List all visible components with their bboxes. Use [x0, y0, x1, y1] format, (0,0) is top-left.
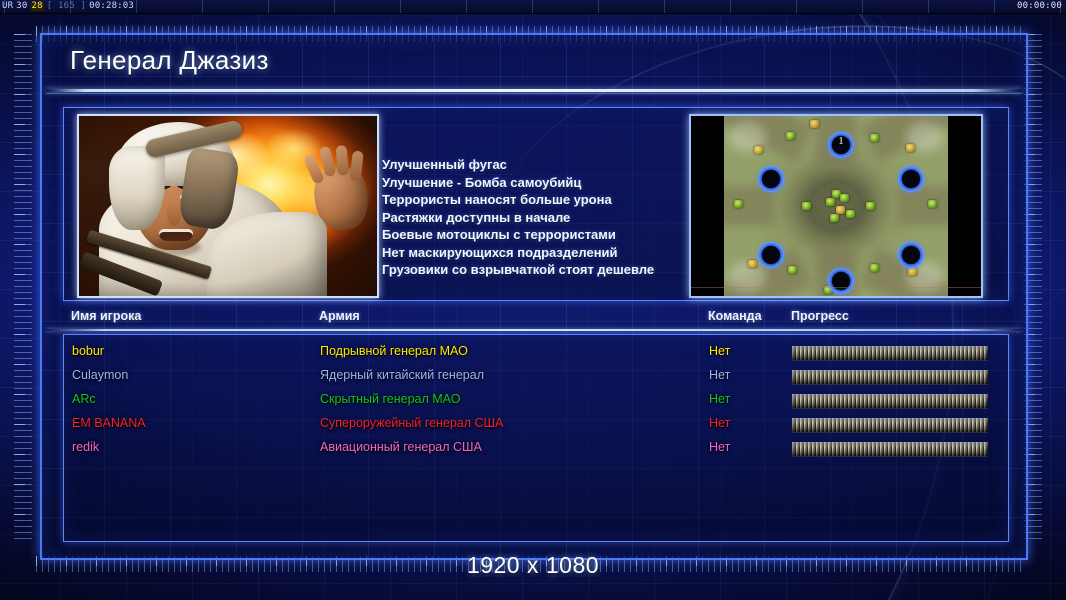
table-row[interactable]: ARc Скрытный генерал МАО Нет [64, 389, 1008, 413]
player-army[interactable]: Супероружейный генерал США [320, 416, 503, 430]
ruler-left [14, 34, 32, 544]
player-team[interactable]: Нет [709, 368, 730, 382]
portrait-vignette [79, 116, 377, 296]
player-team[interactable]: Нет [709, 392, 730, 406]
player-name[interactable]: Culaymon [72, 368, 128, 382]
player-list-header: Имя игрока Армия Команда Прогресс [63, 307, 1007, 329]
page-title: Генерал Джазиз [70, 45, 269, 76]
table-row[interactable]: bobur Подрывной генерал МАО Нет [64, 341, 1008, 365]
minimap-start-position [898, 242, 924, 268]
player-team[interactable]: Нет [709, 440, 730, 454]
status-elapsed-time: 00:28:03 [89, 2, 134, 11]
status-bar-left: UR 30 28 [ 165 ] 00:28:03 [0, 2, 134, 11]
player-team[interactable]: Нет [709, 344, 730, 358]
header-army: Армия [319, 309, 360, 323]
minimap-start-position [758, 166, 784, 192]
top-status-bar: UR 30 28 [ 165 ] 00:28:03 00:00:00 [0, 0, 1066, 14]
player-name[interactable]: ARc [72, 392, 96, 406]
description-line: Растяжки доступны в начале [382, 209, 742, 227]
minimap-start-position [828, 268, 854, 294]
minimap-start-position: 1 [828, 132, 854, 158]
minimap-letterbox-right [948, 116, 981, 296]
header-player-name: Имя игрока [71, 309, 141, 323]
header-divider [46, 329, 1022, 331]
description-line: Улучшение - Бомба самоубийц [382, 174, 742, 192]
status-prefix: UR [2, 2, 13, 11]
minimap-guideline [691, 287, 981, 288]
player-progress-bar [792, 418, 988, 433]
title-divider-shadow [46, 93, 1022, 94]
general-portrait [77, 114, 379, 298]
main-window: Генерал Джазиз [40, 33, 1028, 560]
minimap-start-position [898, 166, 924, 192]
status-value-1: 30 [16, 2, 27, 11]
player-army[interactable]: Ядерный китайский генерал [320, 368, 484, 382]
header-team: Команда [708, 309, 762, 323]
description-line: Нет маскирующихся подразделений [382, 244, 742, 262]
general-info-panel: Улучшенный фугас Улучшение - Бомба самоу… [63, 107, 1009, 301]
player-team[interactable]: Нет [709, 416, 730, 430]
player-progress-bar [792, 370, 988, 385]
minimap-terrain: 1 [724, 116, 948, 296]
minimap-letterbox-left [691, 116, 724, 296]
description-line: Боевые мотоциклы с террористами [382, 226, 742, 244]
table-row[interactable]: redik Авиационный генерал США Нет [64, 437, 1008, 461]
player-army[interactable]: Авиационный генерал США [320, 440, 482, 454]
player-progress-bar [792, 346, 988, 361]
table-row[interactable]: EM BANANA Супероружейный генерал США Нет [64, 413, 1008, 437]
status-bar-cells [0, 0, 1066, 13]
player-progress-bar [792, 394, 988, 409]
description-line: Террористы наносят больше урона [382, 191, 742, 209]
header-progress: Прогресс [791, 309, 849, 323]
player-army[interactable]: Скрытный генерал МАО [320, 392, 460, 406]
minimap-start-position [758, 242, 784, 268]
minimap-start-label: 1 [828, 135, 854, 147]
player-list-panel: bobur Подрывной генерал МАО Нет Culaymon… [63, 334, 1009, 542]
window-titlebar: Генерал Джазиз [42, 35, 1026, 91]
player-name[interactable]: redik [72, 440, 99, 454]
player-name[interactable]: EM BANANA [72, 416, 146, 430]
table-row[interactable]: Culaymon Ядерный китайский генерал Нет [64, 365, 1008, 389]
description-line: Грузовики со взрывчаткой стоят дешевле [382, 261, 742, 279]
player-army[interactable]: Подрывной генерал МАО [320, 344, 468, 358]
game-screen: UR 30 28 [ 165 ] 00:28:03 00:00:00 Генер… [0, 0, 1066, 600]
minimap-center-resources [820, 188, 860, 228]
description-line: Улучшенный фугас [382, 156, 742, 174]
status-bar-right-time: 00:00:00 [1017, 2, 1062, 11]
resolution-label: 1920 x 1080 [0, 552, 1066, 579]
player-progress-bar [792, 442, 988, 457]
status-value-2: 28 [31, 2, 44, 11]
status-bracket-value: [ 165 ] [47, 2, 86, 11]
minimap[interactable]: 1 [689, 114, 983, 298]
player-name[interactable]: bobur [72, 344, 104, 358]
title-divider [46, 89, 1022, 92]
general-description: Улучшенный фугас Улучшение - Бомба самоу… [382, 156, 742, 279]
